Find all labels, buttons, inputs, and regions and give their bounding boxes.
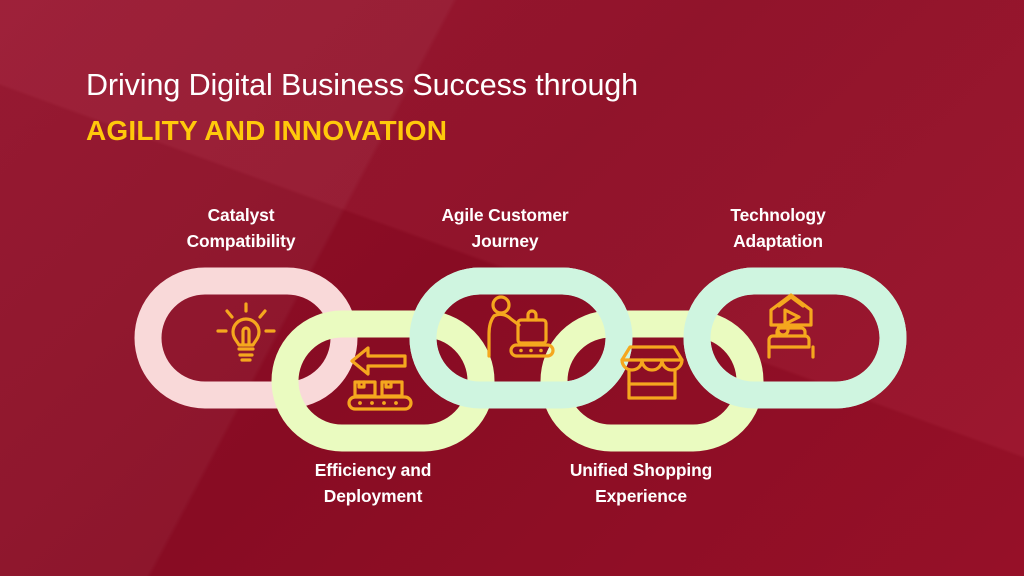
label-line-1: Agile Customer (398, 203, 612, 229)
storefront-icon (622, 347, 682, 398)
chain-label-unified-shopping-experience: Unified Shopping Experience (533, 458, 749, 509)
conveyor-belt-arrow-icon (349, 348, 411, 409)
label-line-2: Deployment (265, 484, 481, 510)
label-line-1: Technology (672, 203, 884, 229)
lightbulb-icon (218, 304, 274, 360)
smart-home-media-icon (769, 295, 813, 357)
label-line-2: Journey (398, 229, 612, 255)
label-line-1: Efficiency and (265, 458, 481, 484)
chain-label-efficiency-and-deployment: Efficiency and Deployment (265, 458, 481, 509)
passenger-luggage-conveyor-icon (489, 297, 553, 356)
label-line-1: Unified Shopping (533, 458, 749, 484)
label-line-1: Catalyst (135, 203, 347, 229)
chain-label-technology-adaptation: Technology Adaptation (672, 203, 884, 254)
label-line-2: Adaptation (672, 229, 884, 255)
label-line-2: Experience (533, 484, 749, 510)
chain-label-catalyst-compatibility: Catalyst Compatibility (135, 203, 347, 254)
chain-label-agile-customer-journey: Agile Customer Journey (398, 203, 612, 254)
label-line-2: Compatibility (135, 229, 347, 255)
slide-canvas: Driving Digital Business Success through… (0, 0, 1024, 576)
chain-diagram (0, 0, 1024, 576)
